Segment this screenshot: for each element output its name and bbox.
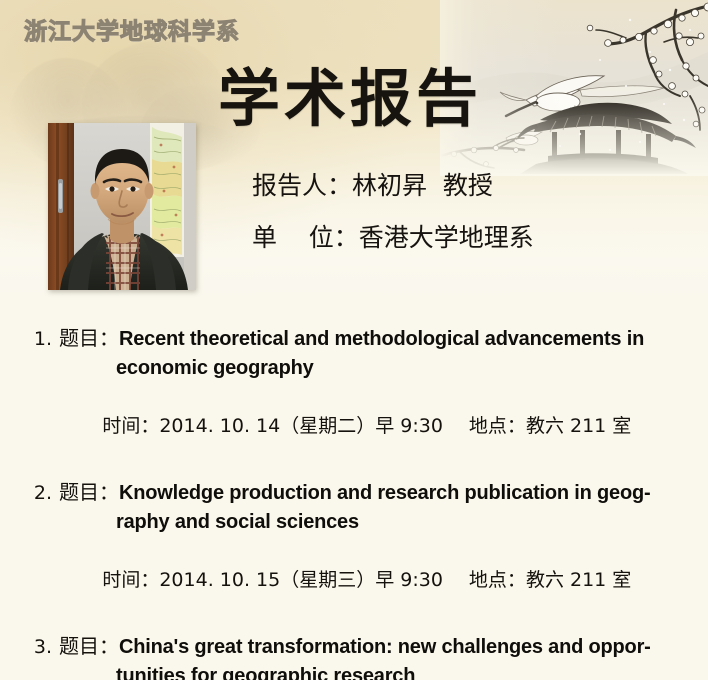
talk-title-line1: Knowledge production and research public…: [119, 482, 650, 505]
page-title: 学术报告: [218, 48, 482, 138]
time-label: 时间：: [102, 415, 159, 437]
talk-title-row: 2. 题目： Knowledge production and research…: [0, 476, 708, 505]
talk-title-line2: economic geography: [0, 357, 708, 380]
talk-number: 1.: [30, 328, 52, 350]
department-title: 浙江大学地球科学系: [24, 12, 240, 46]
talk-item: 3. 题目： China's great transformation: new…: [0, 630, 708, 680]
talk-meta: 时间：2014. 10. 14（星期二）早 9:30地点：教六 211 室: [0, 389, 708, 460]
talk-number: 3.: [30, 636, 52, 658]
talk-title-row: 1. 题目： Recent theoretical and methodolog…: [0, 322, 708, 351]
talk-number: 2.: [30, 482, 52, 504]
academic-lecture-poster: 浙江大学地球科学系 学术报告: [0, 0, 708, 680]
affiliation-line: 单 位：香港大学地理系: [252, 224, 534, 252]
talk-label: 题目：: [59, 630, 119, 659]
talk-title-line2: tunities for geographic research: [0, 665, 708, 680]
talk-meta: 时间：2014. 10. 15（星期三）早 9:30地点：教六 211 室: [0, 543, 708, 614]
place-label: 地点：: [469, 569, 526, 591]
place-value: 教六 211 室: [526, 569, 631, 591]
time-value: 2014. 10. 14（星期二）早 9:30: [159, 415, 443, 437]
time-value: 2014. 10. 15（星期三）早 9:30: [159, 569, 443, 591]
talk-item: 2. 题目： Knowledge production and research…: [0, 476, 708, 614]
talk-list: 1. 题目： Recent theoretical and methodolog…: [0, 322, 708, 680]
talk-item: 1. 题目： Recent theoretical and methodolog…: [0, 322, 708, 460]
time-label: 时间：: [102, 569, 159, 591]
talk-label: 题目：: [59, 476, 119, 505]
presenter-line: 报告人：林初昇 教授: [252, 172, 534, 200]
talk-title-line1: China's great transformation: new challe…: [119, 636, 651, 659]
talk-title-line1: Recent theoretical and methodological ad…: [119, 328, 644, 351]
place-value: 教六 211 室: [526, 415, 631, 437]
talk-title-line2: raphy and social sciences: [0, 511, 708, 534]
speaker-info: 报告人：林初昇 教授 单 位：香港大学地理系: [252, 172, 534, 252]
place-label: 地点：: [469, 415, 526, 437]
speaker-portrait-photo: [48, 123, 196, 290]
talk-label: 题目：: [59, 322, 119, 351]
talk-title-row: 3. 题目： China's great transformation: new…: [0, 630, 708, 659]
